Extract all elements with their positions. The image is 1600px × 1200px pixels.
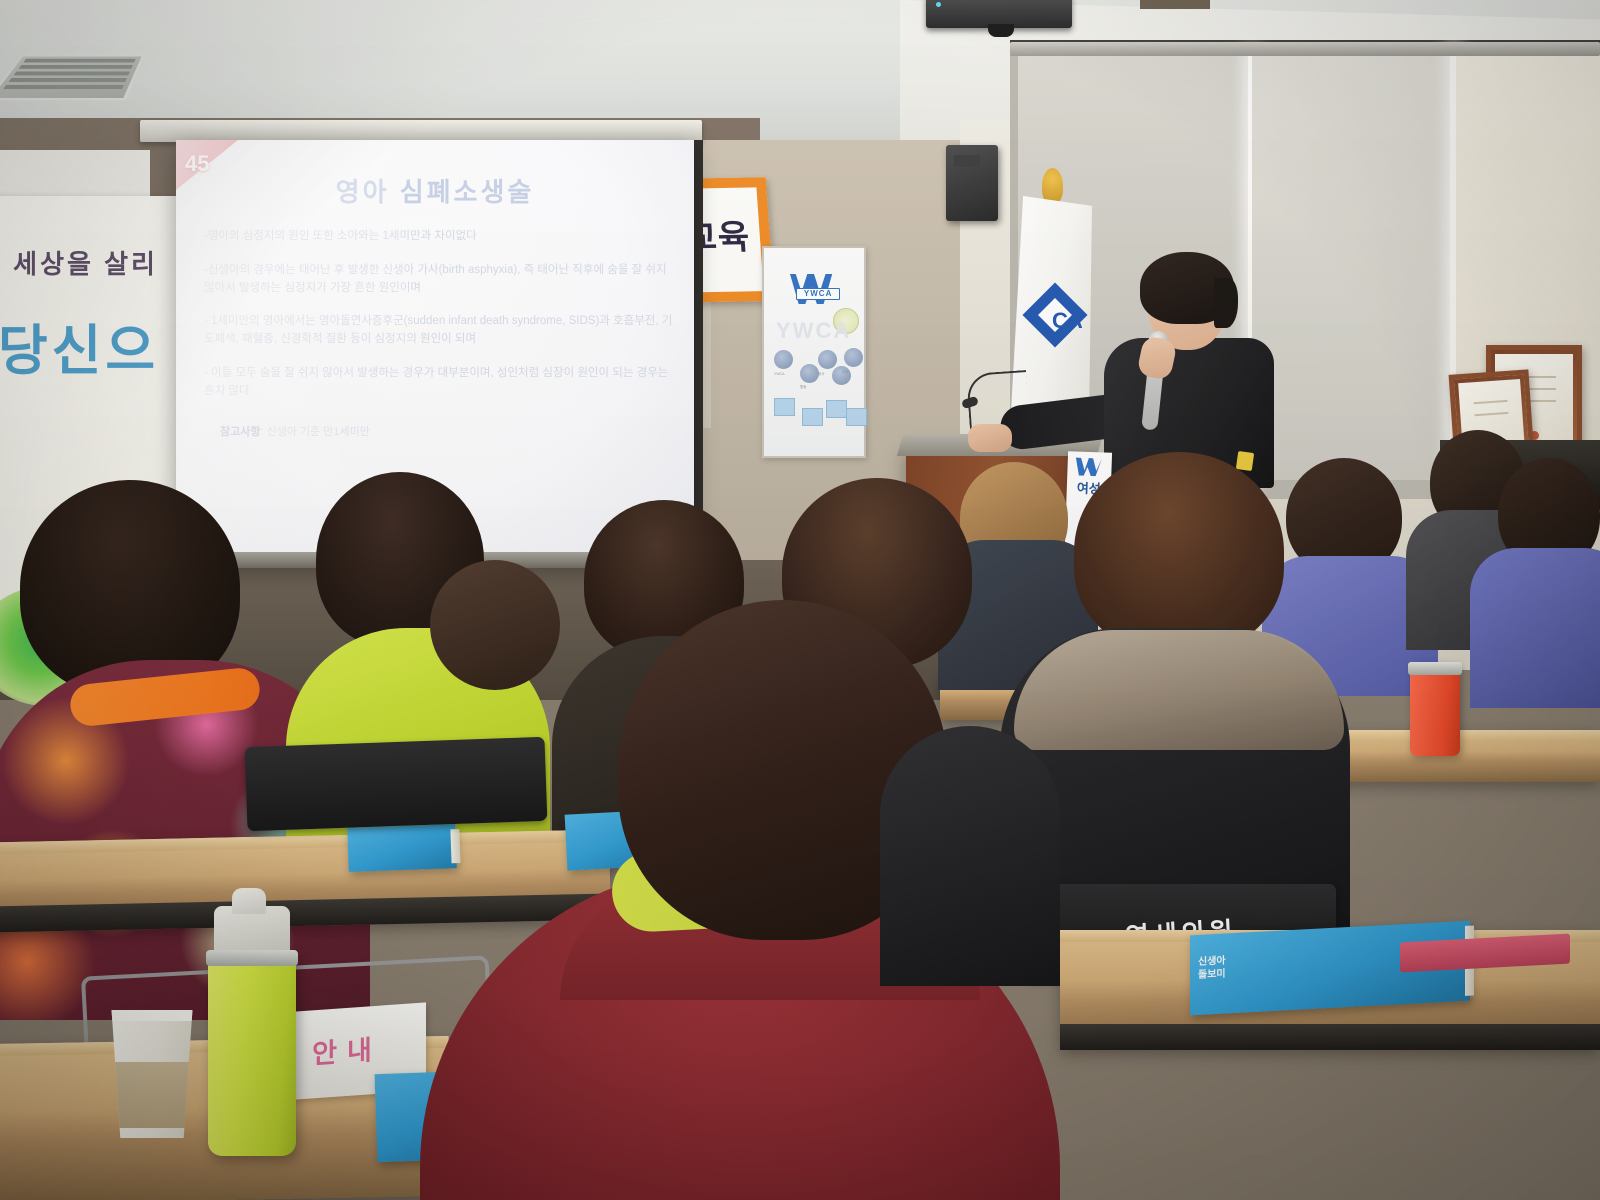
yellow-tumbler xyxy=(208,950,296,1156)
presenter-hair xyxy=(1140,252,1234,324)
book-blue-left xyxy=(347,824,456,872)
poster-left-line1: 감 세상을 살리 xyxy=(0,244,176,281)
presenter-hand-on-podium xyxy=(968,424,1012,452)
fur-trim-hood xyxy=(1014,630,1344,750)
slide-note-text: : 신생아 기준 만1세미만 xyxy=(260,426,369,438)
flag-finial-icon xyxy=(1042,168,1063,204)
audience-body xyxy=(880,726,1060,986)
screen-right-edge xyxy=(694,140,703,565)
slide-note: 참고사항: 신생아 기준 만1세미만 xyxy=(220,423,370,439)
flag-mark-text: CA xyxy=(1052,308,1082,334)
ywca-caption-2: 봉사 xyxy=(818,372,824,377)
slide-title: 영아 심폐소생술 xyxy=(176,172,694,209)
book-title-line2: 돌보미 xyxy=(1198,968,1226,980)
desk-far-right xyxy=(1330,730,1600,782)
slide-paragraph-2: - 1세미만의 영아에서는 영아돌연사증후군(sudden infant dea… xyxy=(204,313,678,349)
ywca-caption-1: 활동 xyxy=(800,385,806,390)
podium-banner-logo-icon xyxy=(1075,458,1102,477)
slide-paragraph-1: -신생아의 경우에는 태어난 후 발생한 신생아 가사(birth asphyx… xyxy=(204,262,678,298)
audience-head xyxy=(430,560,560,690)
slide-paragraph-0: -영아의 심정지의 원인 또한 소아와는 1세미만과 차이없다 xyxy=(204,228,678,246)
slide-paragraph-3: - 이들 모두 숨을 잘 쉬지 않아서 발생하는 경우가 대부분이며, 성인처럼… xyxy=(204,365,678,401)
ywca-logo-text: YWCA xyxy=(798,289,838,298)
projector-lens-icon xyxy=(988,24,1014,37)
ywca-logo-icon: YWCA xyxy=(790,274,838,304)
projector-mount xyxy=(1140,0,1210,9)
audience-body xyxy=(1470,548,1600,708)
presenter-badge xyxy=(1236,451,1254,471)
ceiling-projector-icon xyxy=(926,0,1072,28)
paper-cup xyxy=(108,1010,196,1138)
projection-screen-roller xyxy=(140,120,702,142)
ywca-caption-0: YWCA xyxy=(774,372,785,376)
red-tumbler xyxy=(1410,662,1460,756)
desk-left-mid xyxy=(0,830,611,933)
ceiling-air-vent-icon xyxy=(0,56,142,98)
ywca-poster-watermark: YWCA xyxy=(776,318,851,344)
slide-body: -영아의 심정지의 원인 또한 소아와는 1세미만과 차이없다 -신생아의 경우… xyxy=(204,228,678,417)
audience-head xyxy=(1074,452,1284,652)
slide-note-label: 참고사항 xyxy=(220,426,260,438)
poster-left-line2: 당신으 xyxy=(0,306,198,385)
ywca-caption-3: 교육 xyxy=(842,370,848,375)
ywca-poster: YWCA YWCA YWCA 활동 봉사 교육 xyxy=(762,246,866,458)
blind-rail xyxy=(1010,42,1600,56)
chair-back-left xyxy=(245,737,548,831)
window-blind-center xyxy=(1252,50,1452,480)
classroom-lecture-photo: 감 세상을 살리 당신으 교육 YWCA YWCA YWCA 활동 봉사 교육 xyxy=(0,0,1600,1200)
wall-speaker-icon xyxy=(946,145,998,221)
book-title-line1: 신생아 xyxy=(1198,956,1226,968)
